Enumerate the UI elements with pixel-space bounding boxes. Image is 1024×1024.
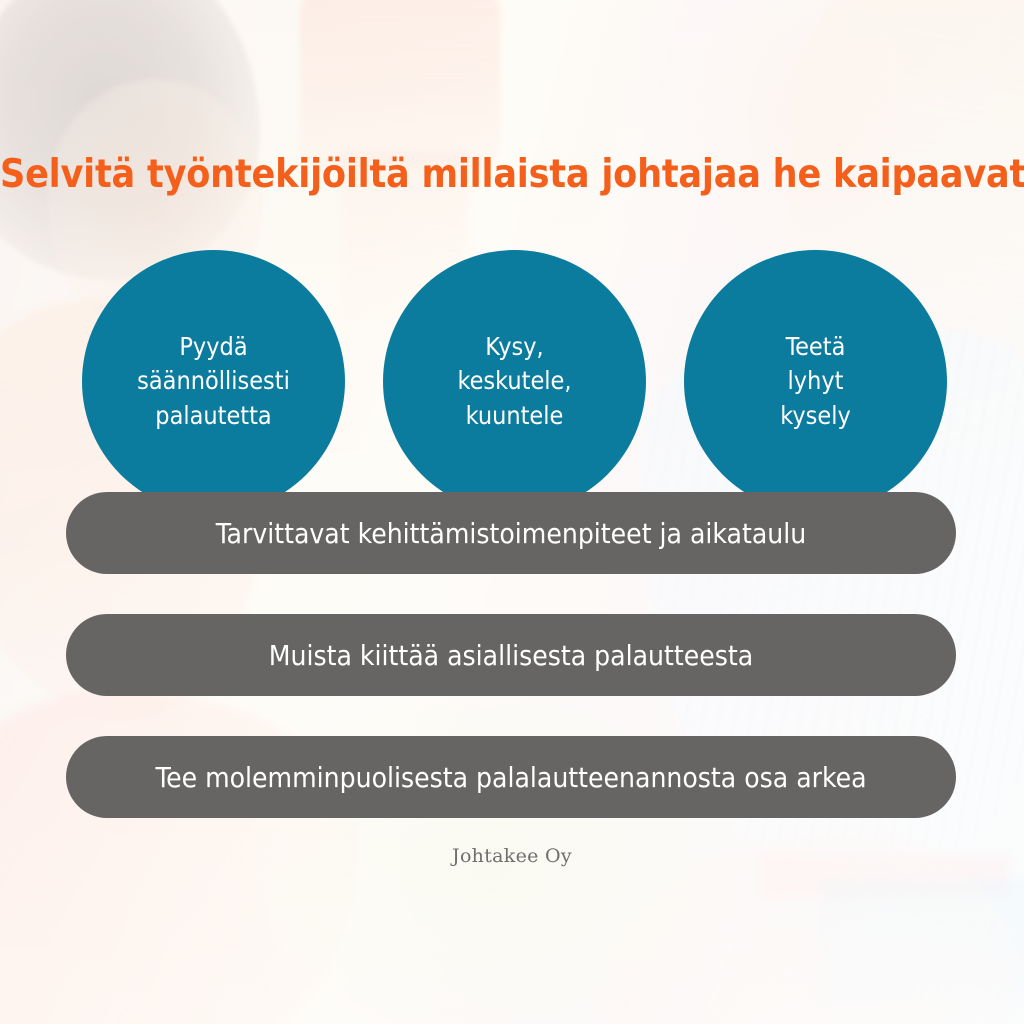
pill-bar-3: Tee molemminpuolisesta palalauttee­nanno… <box>66 736 956 818</box>
pill-bar-1-label: Tarvittavat kehittämistoimenpiteet ja ai… <box>216 517 806 550</box>
pill-bar-3-label: Tee molemminpuolisesta palalauttee­nanno… <box>155 761 866 794</box>
circle-step-1: Pyydä säännöllisesti palautetta <box>82 250 345 513</box>
footer-brand: Johtakee Oy <box>0 845 1024 867</box>
poster-content: Selvitä työntekijöiltä millaista johtaja… <box>0 0 1024 1024</box>
circle-step-3-label: Teetä lyhyt kysely <box>758 330 873 434</box>
page-title: Selvitä työntekijöiltä millaista johtaja… <box>0 152 1024 197</box>
circle-step-2: Kysy, keskutele, kuuntele <box>383 250 646 513</box>
pill-bar-2: Muista kiittää asiallisesta palautteesta <box>66 614 956 696</box>
circle-step-2-label: Kysy, keskutele, kuuntele <box>435 330 593 434</box>
infographic-poster: Selvitä työntekijöiltä millaista johtaja… <box>0 0 1024 1024</box>
pill-bar-1: Tarvittavat kehittämistoimenpiteet ja ai… <box>66 492 956 574</box>
circle-step-3: Teetä lyhyt kysely <box>684 250 947 513</box>
pill-bar-2-label: Muista kiittää asiallisesta palautteesta <box>269 639 753 672</box>
circle-step-1-label: Pyydä säännöllisesti palautetta <box>115 330 312 434</box>
